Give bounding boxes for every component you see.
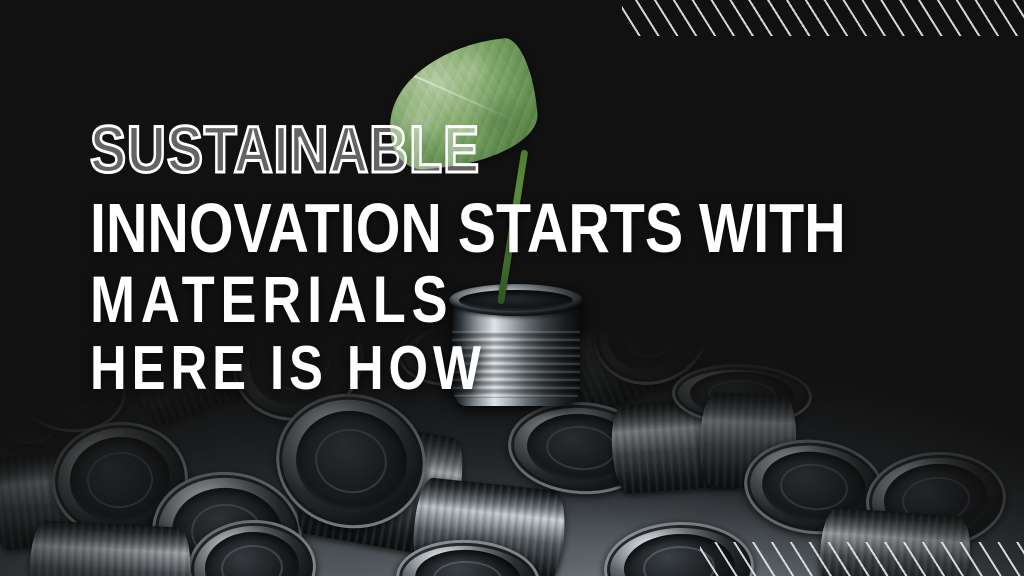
can-cylinder	[28, 520, 192, 576]
poster-canvas: SUSTAINABLE INNOVATION STARTS WITH MATER…	[0, 0, 1024, 576]
headline-line-3: MATERIALS	[90, 268, 795, 330]
diagonal-stripe-pattern-top-right	[622, 0, 1024, 36]
headline-line-1: SUSTAINABLE	[90, 118, 795, 180]
headline-block: SUSTAINABLE INNOVATION STARTS WITH MATER…	[90, 118, 950, 398]
headline-line-2: INNOVATION STARTS WITH	[90, 196, 795, 262]
diagonal-stripe-pattern-bottom-right	[700, 542, 1024, 576]
headline-line-4: HERE IS HOW	[90, 340, 795, 398]
